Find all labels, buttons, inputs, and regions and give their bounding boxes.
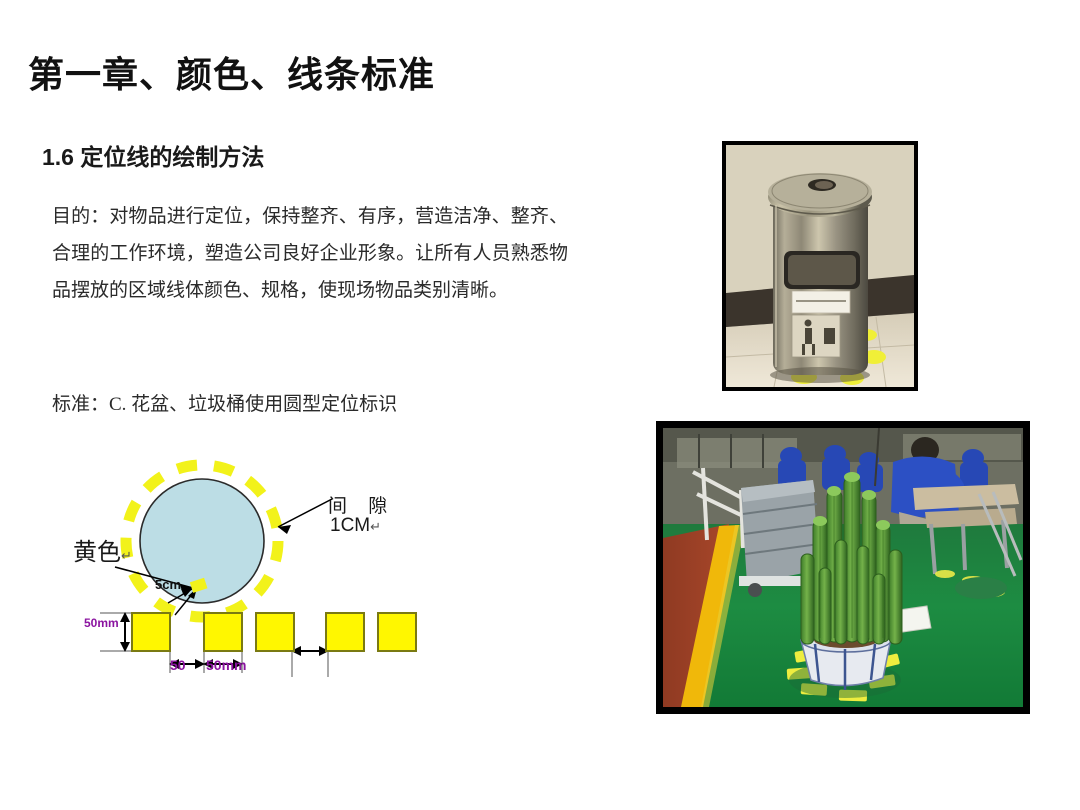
trash-bin-photo-inner: [726, 145, 914, 387]
yellow-square: [326, 613, 364, 651]
label-yellow-color: 黄色↵: [73, 532, 132, 567]
label-50mm-vertical: 50mm: [84, 616, 119, 630]
yellow-square-row: [132, 613, 416, 651]
trash-bin-photo: [722, 141, 918, 391]
distant-pot: [955, 577, 1007, 599]
trash-bin-illustration: [726, 145, 914, 387]
positioning-line-diagram: 黄色↵ 间 隙 1CM↵ 5cm 50mm 50 50mm: [60, 455, 480, 695]
potted-cactus-photo-inner: [663, 428, 1023, 707]
right-gap-dimension-arrow-icon: [291, 646, 329, 656]
ash-contents: [815, 181, 833, 189]
vertical-dimension-arrow-icon: [120, 612, 130, 652]
bin-label: [792, 291, 850, 313]
bin-opening-inner: [788, 255, 856, 285]
bin-lid-top: [768, 173, 872, 211]
cr-mark-icon-2: ↵: [370, 519, 381, 534]
cr-mark-icon: ↵: [121, 548, 132, 563]
label-gap-value: 1CM↵: [330, 515, 381, 537]
diagram-svg: [60, 455, 480, 695]
gap-leader-arrow-icon: [278, 499, 332, 534]
factory-floor-illustration: [663, 428, 1023, 707]
label-50mm-horizontal: 50mm: [206, 657, 246, 673]
label-5cm: 5cm: [155, 577, 181, 592]
label-gap: 间 隙: [328, 491, 395, 518]
standard-line: 标准：C. 花盆、垃圾桶使用圆型定位标识: [52, 389, 397, 416]
yellow-square: [378, 613, 416, 651]
yellow-square: [256, 613, 294, 651]
yellow-square: [132, 613, 170, 651]
section-heading: 1.6 定位线的绘制方法: [42, 138, 264, 172]
page-title: 第一章、颜色、线条标准: [28, 46, 435, 98]
yellow-square: [204, 613, 242, 651]
label-50-horizontal: 50: [170, 657, 186, 673]
potted-cactus-photo: [656, 421, 1030, 714]
bin-base-shadow: [770, 367, 870, 383]
purpose-paragraph: 目的：对物品进行定位，保持整齐、有序，营造洁净、整齐、合理的工作环境，塑造公司良…: [52, 198, 568, 309]
